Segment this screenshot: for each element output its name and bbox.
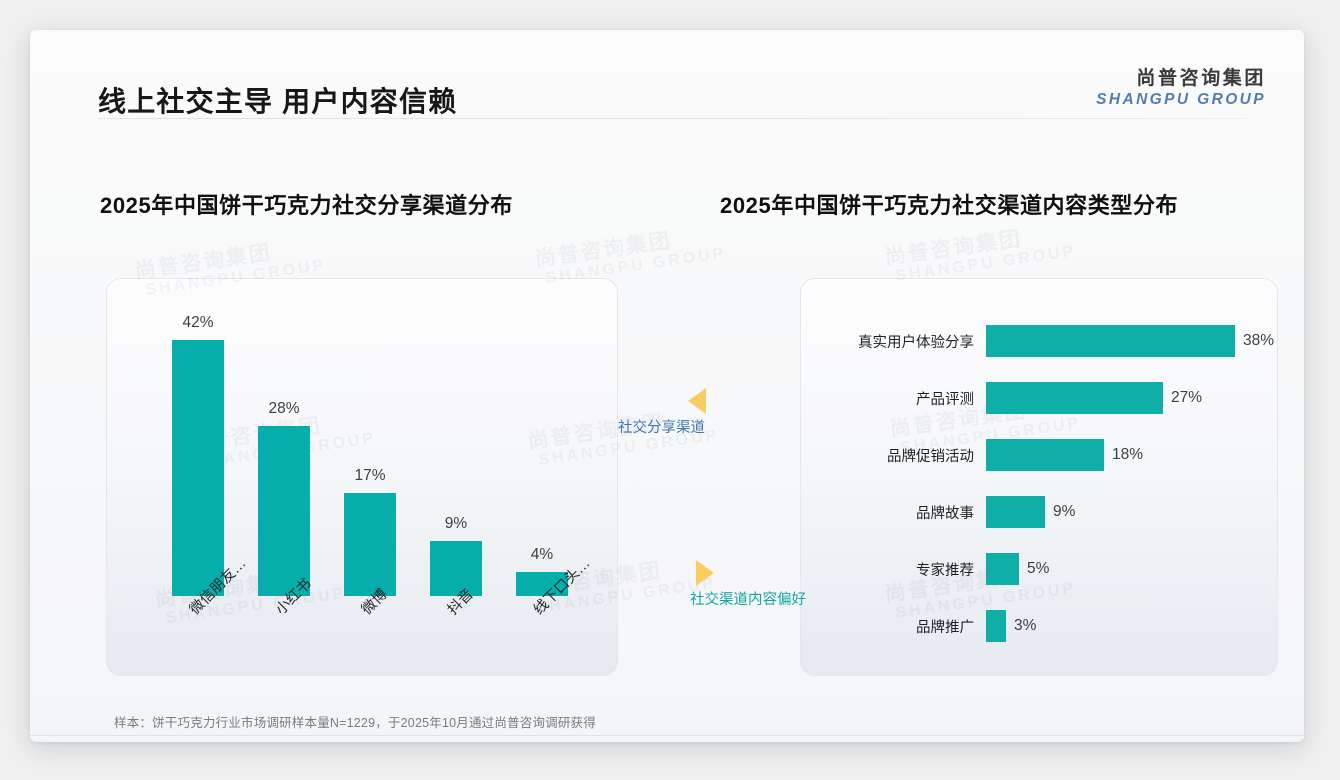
- annotation-social-share-channel: 社交分享渠道: [618, 388, 706, 437]
- logo-english-name: SHANGPU GROUP: [1096, 91, 1266, 110]
- right-chart-title: 2025年中国饼干巧克力社交渠道内容类型分布: [720, 188, 1178, 220]
- watermark-cn: 尚普咨询集团: [133, 229, 325, 285]
- bar-column[interactable]: 4%线下口头…: [516, 572, 568, 596]
- bar-value-label: 28%: [268, 400, 299, 418]
- bar-row[interactable]: 品牌故事9%: [800, 495, 1276, 529]
- bar-value-label: 9%: [445, 515, 467, 533]
- bar-value-label: 18%: [1112, 446, 1143, 464]
- annotation-content-preference: 社交渠道内容偏好: [690, 560, 806, 609]
- bar-row[interactable]: 真实用户体验分享38%: [800, 324, 1276, 358]
- bar-column[interactable]: 9%抖音: [430, 541, 482, 596]
- bar-category-label: 品牌故事: [800, 502, 986, 523]
- bar-row[interactable]: 产品评测27%: [800, 381, 1276, 415]
- bar-row[interactable]: 品牌推广3%: [800, 609, 1276, 643]
- bar[interactable]: [986, 325, 1235, 357]
- bar-category-label: 真实用户体验分享: [800, 331, 986, 352]
- bar[interactable]: [430, 541, 482, 596]
- content-type-bar-chart: 真实用户体验分享38%产品评测27%品牌促销活动18%品牌故事9%专家推荐5%品…: [800, 278, 1276, 674]
- slide-header: 线上社交主导 用户内容信赖 尚普咨询集团 SHANGPU GROUP: [30, 30, 1304, 120]
- bar-value-label: 17%: [354, 467, 385, 485]
- bar-value-label: 5%: [1027, 560, 1049, 578]
- bar-value-label: 38%: [1243, 332, 1274, 350]
- watermark-cn: 尚普咨询集团: [533, 217, 725, 273]
- bar-category-label: 产品评测: [800, 388, 986, 409]
- bar[interactable]: [344, 493, 396, 596]
- bar-value-label: 27%: [1171, 389, 1202, 407]
- logo-chinese-name: 尚普咨询集团: [1096, 68, 1266, 90]
- bar-column[interactable]: 17%微博: [344, 493, 396, 596]
- header-divider: [98, 118, 1246, 119]
- slide-card: 线上社交主导 用户内容信赖 尚普咨询集团 SHANGPU GROUP 尚普咨询集…: [30, 30, 1304, 742]
- watermark-cn: 尚普咨询集团: [883, 215, 1075, 271]
- bar[interactable]: [986, 610, 1006, 642]
- triangle-left-icon: [688, 388, 706, 414]
- bar[interactable]: [986, 496, 1045, 528]
- bar[interactable]: [986, 553, 1019, 585]
- bar-category-label: 品牌推广: [800, 616, 986, 637]
- bar-row[interactable]: 专家推荐5%: [800, 552, 1276, 586]
- bar-column[interactable]: 28%小红书: [258, 426, 310, 596]
- triangle-right-icon: [696, 560, 714, 586]
- bar-row[interactable]: 品牌促销活动18%: [800, 438, 1276, 472]
- bar-value-label: 9%: [1053, 503, 1075, 521]
- bar-value-label: 3%: [1014, 617, 1036, 635]
- bar[interactable]: [986, 439, 1104, 471]
- watermark: 尚普咨询集团 SHANGPU GROUP: [883, 215, 1078, 287]
- sample-note: 样本：饼干巧克力行业市场调研样本量N=1229，于2025年10月通过尚普咨询调…: [114, 712, 596, 731]
- slide-footer: ©2025.12 SHANGPU GROUP www.shangpu-china…: [30, 736, 1304, 742]
- bar[interactable]: [172, 340, 224, 596]
- bar-column[interactable]: 42%微信朋友…: [172, 340, 224, 596]
- bar-value-label: 4%: [531, 546, 553, 564]
- page-title: 线上社交主导 用户内容信赖: [98, 80, 457, 120]
- bar-value-label: 42%: [182, 314, 213, 332]
- bar[interactable]: [986, 382, 1163, 414]
- bar-category-label: 专家推荐: [800, 559, 986, 580]
- company-logo: 尚普咨询集团 SHANGPU GROUP: [1096, 68, 1266, 109]
- bar-category-label: 品牌促销活动: [800, 445, 986, 466]
- left-chart-title: 2025年中国饼干巧克力社交分享渠道分布: [100, 188, 513, 220]
- bar[interactable]: [258, 426, 310, 596]
- annotation-label: 社交分享渠道: [618, 416, 706, 437]
- social-share-channel-bar-chart: 42%微信朋友…28%小红书17%微博9%抖音4%线下口头…: [106, 278, 616, 674]
- annotation-label: 社交渠道内容偏好: [690, 588, 806, 609]
